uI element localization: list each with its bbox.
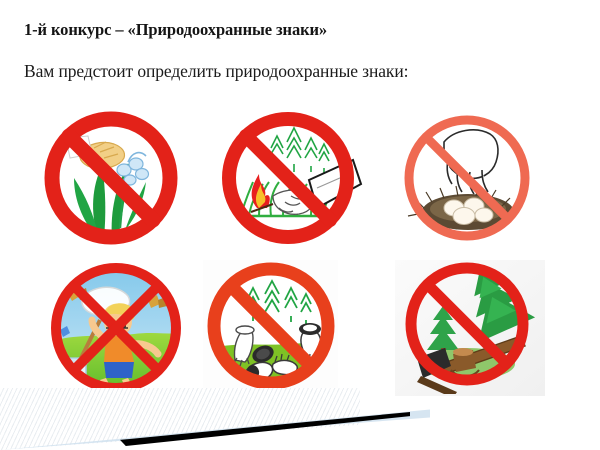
page-title: 1-й конкурс – «Природоохранные знаки»: [24, 20, 327, 40]
prohibition-ring: [44, 258, 189, 398]
sign-no-catching-butterflies[interactable]: [44, 258, 189, 398]
sign-no-destroying-mushrooms[interactable]: [203, 260, 338, 396]
page-subtitle: Вам предстоит определить природоохранные…: [24, 61, 408, 82]
prohibition-ring: [392, 108, 542, 248]
sign-no-cutting-trees[interactable]: [395, 260, 545, 396]
sign-no-campfire[interactable]: [213, 108, 363, 248]
sign-grid: [0, 100, 600, 400]
prohibition-ring: [203, 260, 338, 396]
prohibition-ring: [36, 108, 186, 248]
slide: 1-й конкурс – «Природоохранные знаки» Ва…: [0, 0, 600, 450]
prohibition-ring: [213, 108, 363, 248]
slide-footer-decoration: [0, 388, 600, 450]
sign-no-touching-nests[interactable]: [392, 108, 542, 248]
prohibition-ring: [395, 260, 545, 396]
sign-no-picking-flowers[interactable]: [36, 108, 186, 248]
